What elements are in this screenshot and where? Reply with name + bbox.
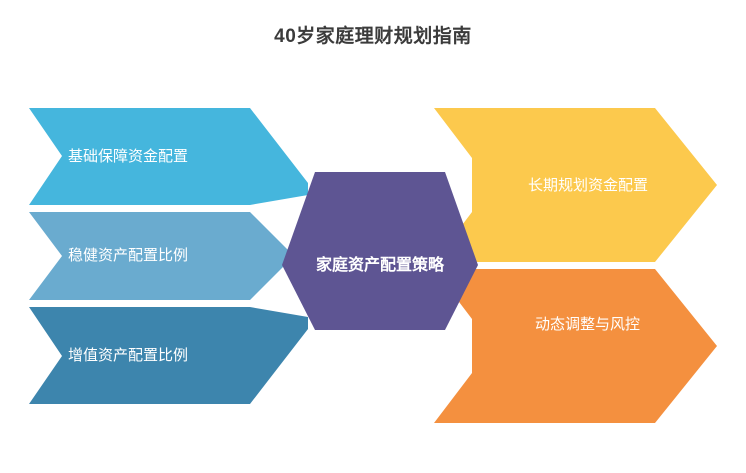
right-node-2-shape[interactable]	[434, 269, 717, 423]
right-node-1[interactable]: 长期规划资金配置	[434, 108, 717, 262]
center-node-label: 家庭资产配置策略	[316, 255, 445, 274]
right-node-1-label: 长期规划资金配置	[528, 177, 648, 194]
center-node-shape[interactable]	[282, 172, 478, 330]
left-node-3[interactable]: 增值资产配置比例	[29, 307, 308, 404]
left-node-3-label: 增值资产配置比例	[68, 347, 188, 364]
right-node-2-label: 动态调整与风控	[535, 316, 640, 333]
right-node-2[interactable]: 动态调整与风控	[434, 269, 717, 423]
left-node-2[interactable]: 稳健资产配置比例	[29, 212, 288, 300]
left-node-2-label: 稳健资产配置比例	[68, 247, 188, 264]
left-node-1-label: 基础保障资金配置	[68, 147, 188, 165]
center-node[interactable]: 家庭资产配置策略	[282, 172, 478, 330]
diagram-canvas: 40岁家庭理财规划指南 基础保障资金配置 稳健资产配置比例 增值资产配置比例 长…	[0, 0, 746, 473]
converging-arrow-diagram: 基础保障资金配置 稳健资产配置比例 增值资产配置比例 长期规划资金配置 动态调整…	[0, 0, 746, 473]
left-node-1[interactable]: 基础保障资金配置	[29, 108, 308, 205]
